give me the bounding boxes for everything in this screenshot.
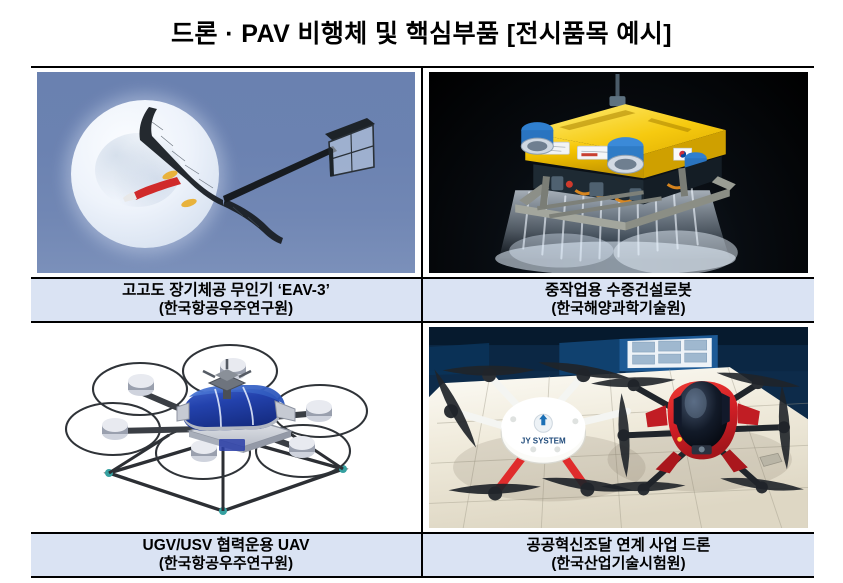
caption-cell-eav3: 고고도 장기체공 무인기 ‘EAV-3’ (한국항공우주연구원) xyxy=(31,278,422,322)
media-padding xyxy=(31,323,421,532)
caption-cell-underwater-robot: 중작업용 수중건설로봇 (한국해양과학기술원) xyxy=(422,278,814,322)
caption-cell-ugv-usv-uav: UGV/USV 협력운용 UAV (한국항공우주연구원) xyxy=(31,533,422,577)
table-row-media-bottom: JY SYSTEM xyxy=(31,322,814,533)
page-title: 드론 · PAV 비행체 및 핵심부품 [전시품목 예시] xyxy=(0,14,843,50)
media-padding: JY SYSTEM xyxy=(423,323,814,532)
high-altitude-solar-uav-photo xyxy=(37,72,415,273)
media-padding xyxy=(31,68,421,277)
media-padding xyxy=(423,68,814,277)
table-row-media-top xyxy=(31,67,814,278)
white-drone-brand-text: JY SYSTEM xyxy=(521,436,566,445)
hexacopter-cad-illustration xyxy=(37,327,415,528)
underwater-construction-robot-photo xyxy=(429,72,808,273)
caption-line-1: UGV/USV 협력운용 UAV xyxy=(35,537,417,555)
media-cell-eav3 xyxy=(31,67,422,278)
rov-illustration xyxy=(429,72,808,273)
table-row-caption-top: 고고도 장기체공 무인기 ‘EAV-3’ (한국항공우주연구원) 중작업용 수중… xyxy=(31,278,814,322)
solar-uav-silhouette xyxy=(37,72,415,273)
hexacopter-cad-render xyxy=(37,327,415,528)
exhibition-drones-illustration: JY SYSTEM xyxy=(429,327,808,528)
caption-line-2: (한국항공우주연구원) xyxy=(35,300,417,318)
caption-cell-public-procurement-drone: 공공혁신조달 연계 사업 드론 (한국산업기술시험원) xyxy=(422,533,814,577)
caption-underwater-robot: 중작업용 수중건설로봇 (한국해양과학기술원) xyxy=(423,280,814,321)
table-row-caption-bottom: UGV/USV 협력운용 UAV (한국항공우주연구원) 공공혁신조달 연계 사… xyxy=(31,533,814,577)
caption-line-2: (한국항공우주연구원) xyxy=(35,555,417,573)
caption-public-procurement-drone: 공공혁신조달 연계 사업 드론 (한국산업기술시험원) xyxy=(423,535,814,576)
exhibition-drones-photo: JY SYSTEM xyxy=(429,327,808,528)
caption-eav3: 고고도 장기체공 무인기 ‘EAV-3’ (한국항공우주연구원) xyxy=(31,280,421,321)
caption-line-1: 공공혁신조달 연계 사업 드론 xyxy=(427,537,810,555)
caption-line-1: 고고도 장기체공 무인기 ‘EAV-3’ xyxy=(35,282,417,300)
media-cell-ugv-usv-uav xyxy=(31,322,422,533)
caption-line-2: (한국산업기술시험원) xyxy=(427,555,810,573)
caption-line-1: 중작업용 수중건설로봇 xyxy=(427,282,810,300)
media-cell-public-procurement-drone: JY SYSTEM xyxy=(422,322,814,533)
caption-ugv-usv-uav: UGV/USV 협력운용 UAV (한국항공우주연구원) xyxy=(31,535,421,576)
caption-line-2: (한국해양과학기술원) xyxy=(427,300,810,318)
media-cell-underwater-robot xyxy=(422,67,814,278)
exhibit-table: 고고도 장기체공 무인기 ‘EAV-3’ (한국항공우주연구원) 중작업용 수중… xyxy=(31,66,814,578)
